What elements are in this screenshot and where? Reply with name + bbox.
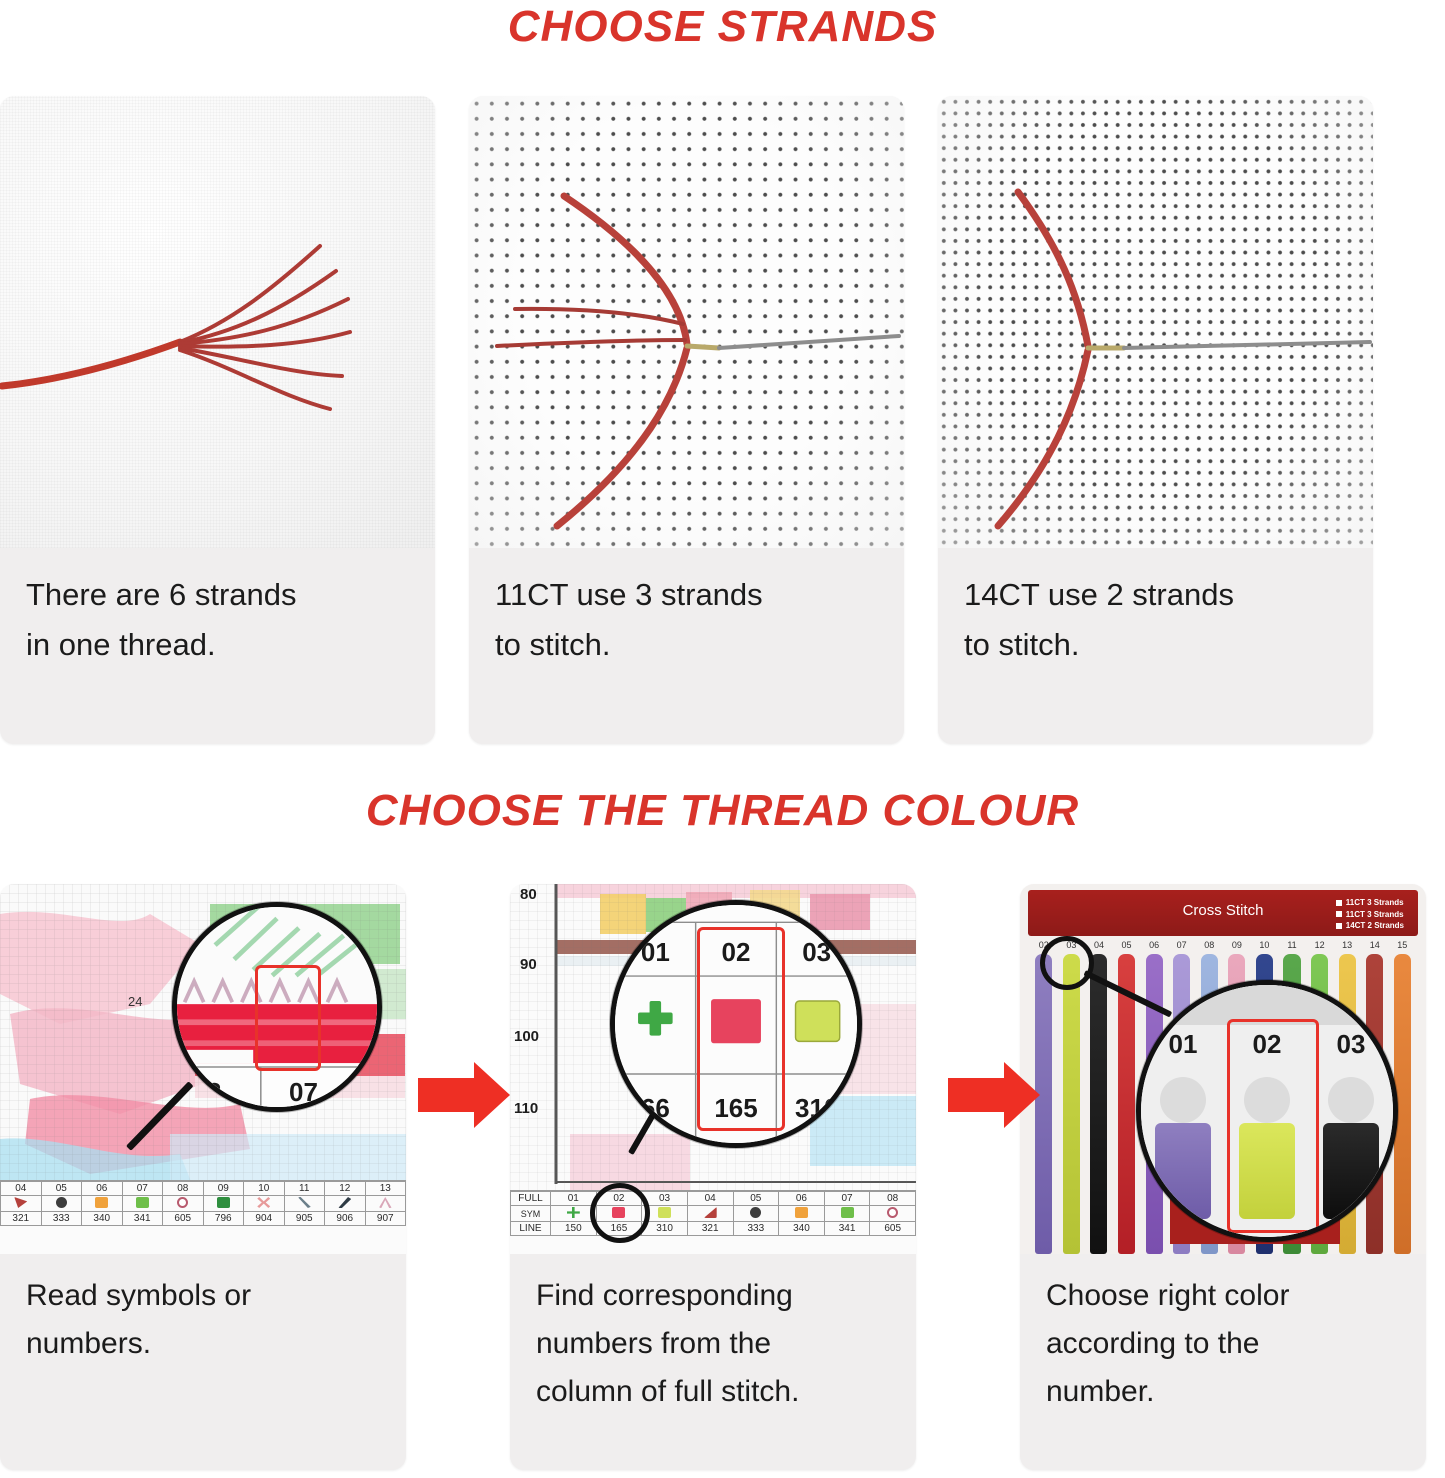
axis-label-80: 80 xyxy=(520,886,537,903)
section-title-choose-strands: CHOOSE STRANDS xyxy=(0,2,1445,52)
legend-code-cell: 906 xyxy=(325,1212,366,1226)
magnified-header-cell: 03 xyxy=(776,937,857,968)
legend-symbol-cell xyxy=(1,1196,42,1212)
legend-symbol-cell xyxy=(203,1196,244,1212)
thread-card-body: Cross Stitch 11CT 3 Strands 11CT 3 Stran… xyxy=(1020,884,1426,1254)
card-find-numbers: 80 90 100 110 xyxy=(510,884,916,1470)
caption-line-2: to stitch. xyxy=(495,620,878,670)
legend-symbol-row xyxy=(1,1196,406,1212)
card-six-strands: There are 6 strands in one thread. xyxy=(0,96,435,744)
strands-card-row: There are 6 strands in one thread. xyxy=(0,96,1445,751)
caption-11ct: 11CT use 3 strands to stitch. xyxy=(469,548,904,670)
magnifier-highlight-box xyxy=(697,927,785,1131)
legend-symbol-cell xyxy=(244,1196,285,1212)
magnified-code-left: 3 xyxy=(207,1077,221,1108)
legend-code-cell: 605 xyxy=(163,1212,204,1226)
caption-14ct: 14CT use 2 strands to stitch. xyxy=(938,548,1373,670)
magnified-code-right: 07 xyxy=(289,1077,318,1108)
chart-legend-strip: FULL 01 02 03 04 05 06 07 08 SYM xyxy=(510,1190,916,1254)
legend-symbol-cell xyxy=(824,1206,870,1222)
legend-row-label: FULL xyxy=(511,1192,551,1206)
magnifier-highlight-box xyxy=(1227,1019,1319,1233)
caption-line-3: number. xyxy=(1046,1368,1400,1416)
card-read-symbols: 24 xyxy=(0,884,406,1470)
card-number: 06 xyxy=(1140,940,1168,950)
legend-code-row: LINE 150 165 310 321 333 340 341 605 xyxy=(511,1222,916,1236)
legend-header-cell: 10 xyxy=(244,1182,285,1196)
pattern-legend-strip: 04 05 06 07 08 09 10 11 12 13 xyxy=(0,1180,406,1254)
six-strands-illustration xyxy=(0,96,435,548)
needle-and-two-strands-illustration xyxy=(938,96,1373,548)
legend-symbol-cell xyxy=(163,1196,204,1212)
photo-loose-thread-six-strands xyxy=(0,96,435,548)
legend-header-cell: 07 xyxy=(122,1182,163,1196)
legend-code-cell: 340 xyxy=(82,1212,123,1226)
caption-line-1: Read symbols or xyxy=(26,1272,380,1320)
caption-read-symbols: Read symbols or numbers. xyxy=(0,1254,406,1368)
legend-symbol-row: SYM xyxy=(511,1206,916,1222)
card-number: 13 xyxy=(1333,940,1361,950)
legend-header-cell: 08 xyxy=(870,1192,916,1206)
legend-header-cell: 11 xyxy=(284,1182,325,1196)
legend-symbol-cell xyxy=(365,1196,406,1212)
legend-header-cell: 06 xyxy=(82,1182,123,1196)
legend-header-cell: 07 xyxy=(824,1192,870,1206)
legend-row-label: SYM xyxy=(511,1206,551,1222)
legend-code-cell: 310 xyxy=(642,1222,688,1236)
card-11ct-three-strands: 11CT use 3 strands to stitch. xyxy=(469,96,904,744)
card-number: 12 xyxy=(1306,940,1334,950)
axis-label-110: 110 xyxy=(514,1100,538,1117)
caption-line-1: There are 6 strands xyxy=(26,570,409,620)
legend-header-cell: 01 xyxy=(551,1192,597,1206)
legend-code-cell: 321 xyxy=(687,1222,733,1236)
needle-and-three-strands-illustration xyxy=(469,96,904,548)
magnified-code-cell: 66 xyxy=(615,1093,696,1124)
check-option: 14CT 2 Strands xyxy=(1336,920,1404,932)
legend-code-cell: 333 xyxy=(41,1212,82,1226)
magnifier-highlight-box xyxy=(255,965,321,1071)
caption-line-1: Choose right color xyxy=(1046,1272,1400,1320)
card-number: 11 xyxy=(1278,940,1306,950)
caption-line-1: 11CT use 3 strands xyxy=(495,570,878,620)
legend-code-cell: 907 xyxy=(365,1212,406,1226)
check-option: 11CT 3 Strands xyxy=(1336,909,1404,921)
legend-header-cell: 04 xyxy=(1,1182,42,1196)
legend-header-row: FULL 01 02 03 04 05 06 07 08 xyxy=(511,1192,916,1206)
legend-code-cell: 321 xyxy=(1,1212,42,1226)
legend-code-cell: 796 xyxy=(203,1212,244,1226)
legend-row-label: LINE xyxy=(511,1222,551,1236)
legend-symbol-cell xyxy=(733,1206,779,1222)
photo-14ct-aida-needle xyxy=(938,96,1373,548)
axis-label-90: 90 xyxy=(520,956,537,973)
caption-line-2: to stitch. xyxy=(964,620,1347,670)
legend-header-cell: 08 xyxy=(163,1182,204,1196)
magnified-header-cell: 03 xyxy=(1309,1029,1393,1060)
caption-line-1: Find corresponding xyxy=(536,1272,890,1320)
legend-symbol-cell xyxy=(82,1196,123,1212)
section-title-choose-thread-colour: CHOOSE THE THREAD COLOUR xyxy=(0,786,1445,836)
card-number: 07 xyxy=(1168,940,1196,950)
legend-symbol-cell xyxy=(122,1196,163,1212)
magnified-hole xyxy=(1141,1077,1225,1219)
caption-line-2: in one thread. xyxy=(26,620,409,670)
caption-line-3: column of full stitch. xyxy=(536,1368,890,1416)
legend-header-cell: 05 xyxy=(41,1182,82,1196)
card-number: 10 xyxy=(1251,940,1279,950)
thread-card-header: Cross Stitch 11CT 3 Strands 11CT 3 Stran… xyxy=(1028,890,1418,936)
card-number: 09 xyxy=(1223,940,1251,950)
magnifier-lens: 3 07 xyxy=(172,902,382,1112)
check-option: 11CT 3 Strands xyxy=(1336,897,1404,909)
caption-line-2: numbers. xyxy=(26,1320,380,1368)
legend-code-cell: 605 xyxy=(870,1222,916,1236)
caption-find-numbers: Find corresponding numbers from the colu… xyxy=(510,1254,916,1416)
card-14ct-two-strands: 14CT use 2 strands to stitch. xyxy=(938,96,1373,744)
legend-header-cell: 04 xyxy=(687,1192,733,1206)
card-number: 14 xyxy=(1361,940,1389,950)
caption-line-2: according to the xyxy=(1046,1320,1400,1368)
legend-code-row: 321 333 340 341 605 796 904 905 906 907 xyxy=(1,1212,406,1226)
magnified-header-cell: 01 xyxy=(1141,1029,1225,1060)
legend-code-cell: 341 xyxy=(824,1222,870,1236)
legend-symbol-cell xyxy=(870,1206,916,1222)
legend-code-cell: 341 xyxy=(122,1212,163,1226)
legend-header-cell: 13 xyxy=(365,1182,406,1196)
legend-highlight-circle xyxy=(590,1183,650,1243)
thread-skein xyxy=(1058,954,1086,1254)
card-number: 05 xyxy=(1113,940,1141,950)
caption-line-2: numbers from the xyxy=(536,1320,890,1368)
magnified-header-cell: 01 xyxy=(615,937,696,968)
photo-printed-pattern: 24 xyxy=(0,884,406,1254)
photo-chart-legend: 80 90 100 110 xyxy=(510,884,916,1254)
thread-colour-card-row: 24 xyxy=(0,884,1445,1478)
legend-symbol-cell xyxy=(41,1196,82,1212)
card-choose-color: Cross Stitch 11CT 3 Strands 11CT 3 Stran… xyxy=(1020,884,1426,1470)
magnified-code-cell: 310 xyxy=(776,1093,857,1124)
legend-symbol-cell xyxy=(325,1196,366,1212)
legend-header-row: 04 05 06 07 08 09 10 11 12 13 xyxy=(1,1182,406,1196)
legend-table: FULL 01 02 03 04 05 06 07 08 SYM xyxy=(510,1191,916,1236)
photo-thread-organizer: Cross Stitch 11CT 3 Strands 11CT 3 Stran… xyxy=(1020,884,1426,1254)
caption-line-1: 14CT use 2 strands xyxy=(964,570,1347,620)
legend-symbol-cell xyxy=(779,1206,825,1222)
magnified-hole xyxy=(1309,1077,1393,1219)
legend-code-cell: 905 xyxy=(284,1212,325,1226)
photo-11ct-aida-needle xyxy=(469,96,904,548)
legend-table: 04 05 06 07 08 09 10 11 12 13 xyxy=(0,1181,406,1226)
legend-code-cell: 150 xyxy=(551,1222,597,1236)
legend-header-cell: 06 xyxy=(779,1192,825,1206)
infographic-page: CHOOSE STRANDS xyxy=(0,0,1445,1478)
caption-choose-color: Choose right color according to the numb… xyxy=(1020,1254,1426,1416)
caption-six-strands: There are 6 strands in one thread. xyxy=(0,548,435,670)
card-number: 15 xyxy=(1389,940,1417,950)
thread-skein xyxy=(1085,954,1113,1254)
thread-card-highlight-circle xyxy=(1040,936,1094,990)
legend-symbol-cell xyxy=(284,1196,325,1212)
legend-header-cell: 05 xyxy=(733,1192,779,1206)
legend-symbol-cell xyxy=(687,1206,733,1222)
card-number: 08 xyxy=(1195,940,1223,950)
legend-code-cell: 340 xyxy=(779,1222,825,1236)
axis-label-100: 100 xyxy=(514,1028,539,1045)
thread-card-check-options: 11CT 3 Strands 11CT 3 Strands 14CT 2 Str… xyxy=(1336,897,1404,932)
magnifier-lens: 01 02 03 66 165 310 xyxy=(610,900,862,1148)
magnifier-lens: 01 02 03 xyxy=(1136,980,1398,1242)
legend-code-cell: 333 xyxy=(733,1222,779,1236)
legend-code-cell: 904 xyxy=(244,1212,285,1226)
legend-header-cell: 12 xyxy=(325,1182,366,1196)
legend-header-cell: 09 xyxy=(203,1182,244,1196)
